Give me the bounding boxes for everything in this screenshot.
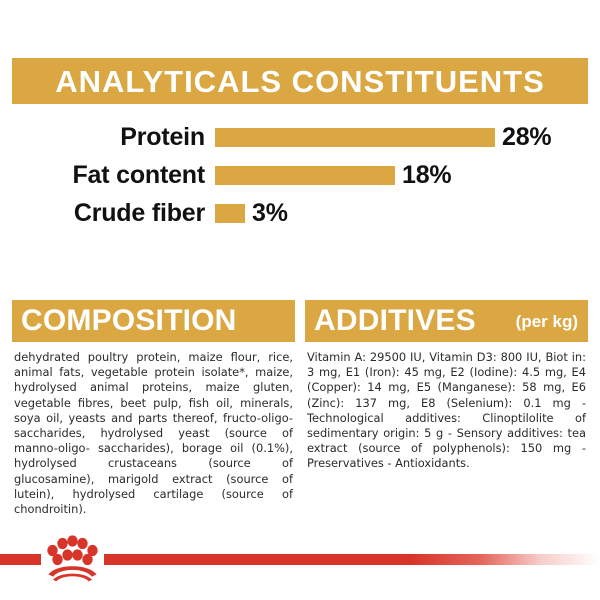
composition-panel: COMPOSITION dehydrated poultry protein, …	[12, 300, 295, 529]
analytical-constituents-header: ANALYTICALS CONSTITUENTS	[12, 58, 588, 104]
footer-rule-right	[104, 554, 600, 565]
additives-header: ADDITIVES (per kg)	[305, 300, 588, 342]
chart-bar	[215, 204, 245, 223]
chart-category-label: Fat content	[12, 163, 215, 188]
chart-value-label: 28%	[502, 125, 551, 150]
constituents-bar-chart: Protein 28% Fat content 18% Crude fiber …	[12, 118, 588, 232]
royal-canin-crown-icon	[41, 534, 104, 582]
footer-rule-left	[0, 554, 41, 565]
chart-value-label: 18%	[402, 163, 451, 188]
analytical-constituents-title: ANALYTICALS CONSTITUENTS	[55, 66, 545, 97]
additives-title: ADDITIVES	[314, 306, 476, 336]
chart-bar	[215, 166, 395, 185]
chart-track: 18%	[215, 156, 588, 194]
chart-row: Fat content 18%	[12, 156, 588, 194]
additives-panel: ADDITIVES (per kg) Vitamin A: 29500 IU, …	[305, 300, 588, 483]
chart-track: 3%	[215, 194, 588, 232]
additives-unit-note: (per kg)	[516, 313, 578, 330]
composition-title: COMPOSITION	[21, 306, 237, 336]
analytical-constituents-panel: ANALYTICALS CONSTITUENTS Protein 28% Fat…	[12, 58, 588, 232]
brand-footer	[0, 528, 600, 600]
chart-track: 28%	[215, 118, 588, 156]
chart-category-label: Protein	[12, 125, 215, 150]
chart-row: Protein 28%	[12, 118, 588, 156]
composition-text: dehydrated poultry protein, maize flour,…	[12, 350, 295, 517]
chart-value-label: 3%	[252, 201, 288, 226]
chart-bar	[215, 128, 495, 147]
label-page: ANALYTICALS CONSTITUENTS Protein 28% Fat…	[0, 0, 600, 600]
chart-category-label: Crude fiber	[12, 201, 215, 226]
composition-header: COMPOSITION	[12, 300, 295, 342]
additives-text: Vitamin A: 29500 IU, Vitamin D3: 800 IU,…	[305, 350, 588, 472]
chart-row: Crude fiber 3%	[12, 194, 588, 232]
